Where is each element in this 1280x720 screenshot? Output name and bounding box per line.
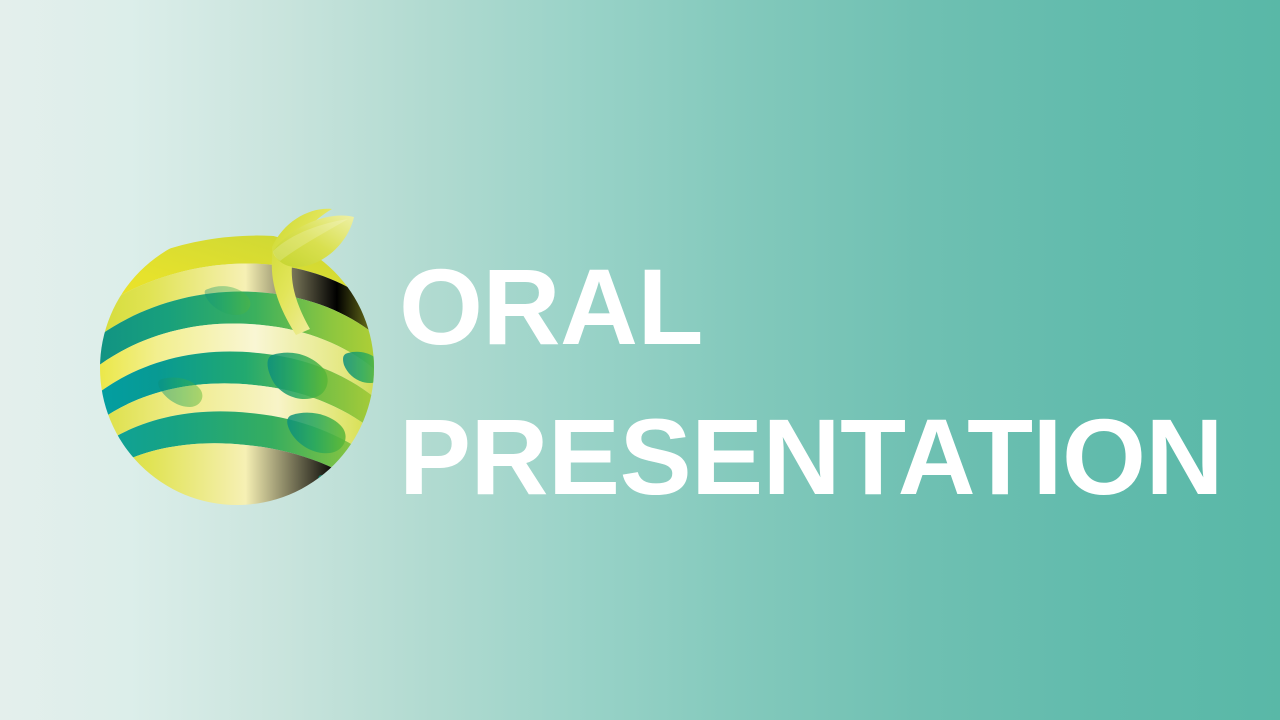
slide-canvas: ORAL PRESENTATION: [0, 0, 1280, 720]
globe-bands: [76, 236, 402, 539]
page-title-line-1: ORAL: [399, 232, 1199, 382]
page-title-line-2: PRESENTATION: [399, 382, 1199, 532]
globe-ribbon-logo: [96, 203, 378, 521]
leaf-icon: [273, 215, 354, 267]
title-block: ORAL PRESENTATION: [399, 232, 1199, 532]
